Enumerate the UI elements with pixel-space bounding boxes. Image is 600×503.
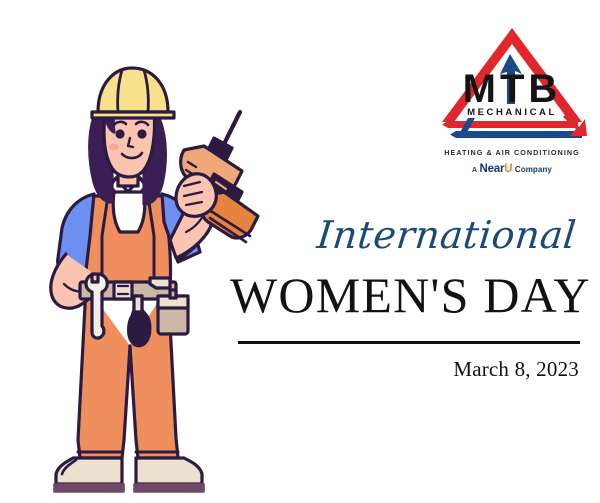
blue-bar [450,131,582,138]
divider-rule [238,341,580,344]
tool-belt [80,274,188,346]
company-name-u: U [504,163,512,175]
right-hand [176,174,216,217]
hard-hat-brim [92,112,174,118]
main-headline: WOMEN'S DAY [230,270,580,320]
left-boot [54,452,124,492]
mtb-wordmark: MTB [463,67,562,111]
red-bar [442,121,578,128]
company-suffix: Company [515,165,552,174]
event-date: March 8, 2023 [230,357,579,382]
headline-block: International WOMEN'S DAY March 8, 2023 [230,216,580,382]
hard-hat [98,68,168,112]
mtb-logo: MTB MECHANICAL HEATING & AIR CONDITIONIN… [432,18,592,176]
drill-bit [224,112,240,144]
poster-canvas: MTB MECHANICAL HEATING & AIR CONDITIONIN… [0,0,600,503]
right-eye [137,129,146,138]
mechanical-wordmark: MECHANICAL [467,107,557,118]
script-headline: International [230,216,578,254]
company-name-near: Near [480,163,505,175]
mtb-logo-mark: MTB MECHANICAL [432,18,592,146]
hammer-tool [150,278,170,288]
company-prefix: A [472,167,477,174]
cheek [109,144,119,151]
shirt-chest [113,192,145,232]
left-eye [115,129,124,138]
right-boot [134,452,204,492]
logo-tagline: HEATING & AIR CONDITIONING [432,148,592,157]
logo-company-line: A NearU Company [432,164,592,176]
mtb-logo-svg: MTB MECHANICAL [432,18,592,146]
left-leg [78,286,130,458]
